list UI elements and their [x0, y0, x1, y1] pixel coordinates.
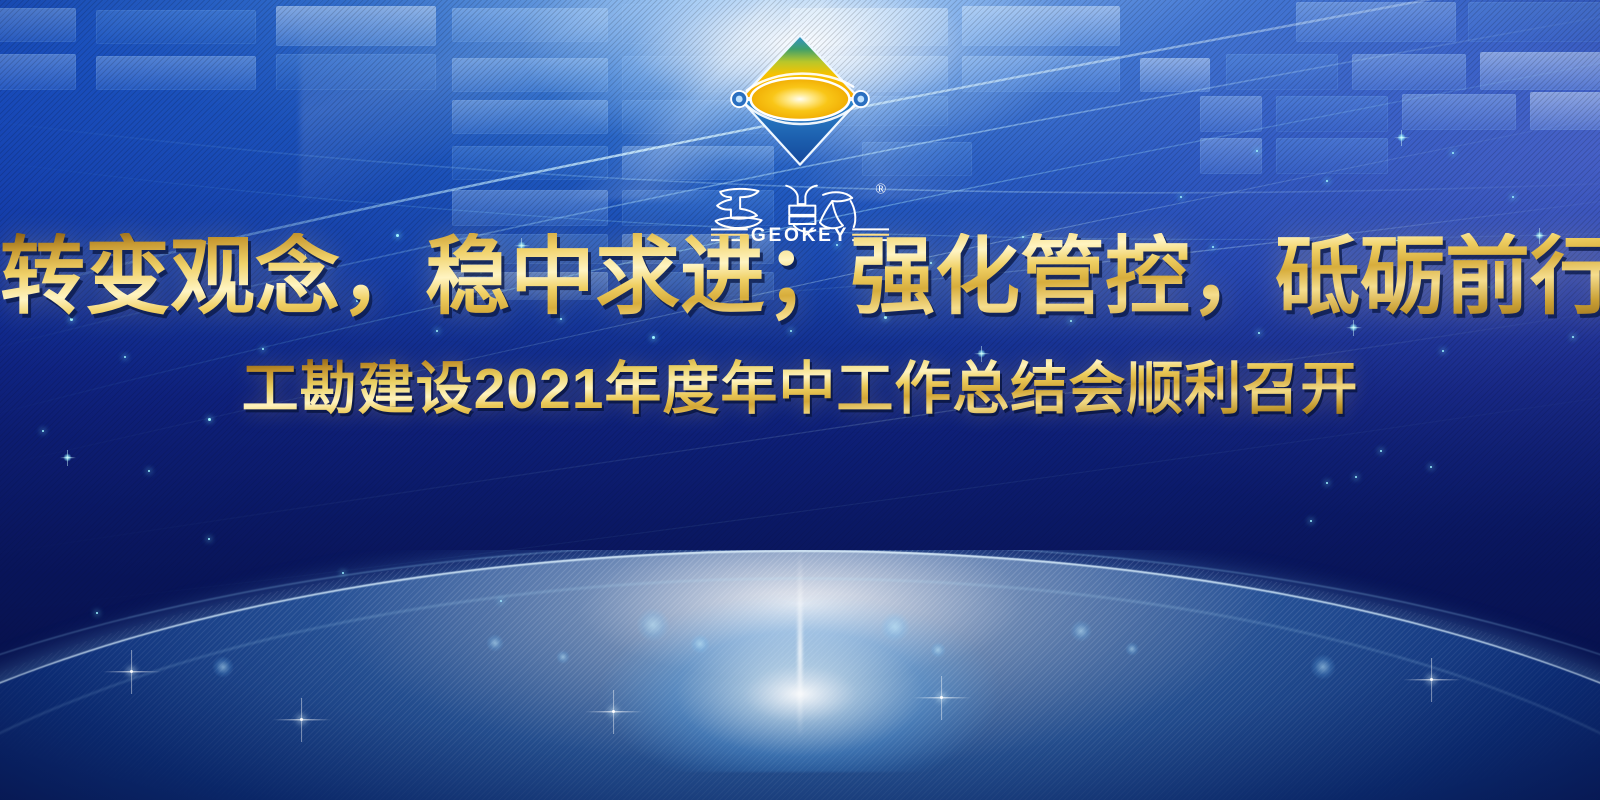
headline-block: 转变观念，稳中求进；强化管控，砥砺前行。	[0, 233, 1600, 323]
subtitle-block: 工勘建设2021年度年中工作总结会顺利召开	[0, 358, 1600, 421]
banner-subtitle: 工勘建设2021年度年中工作总结会顺利召开	[242, 358, 1359, 421]
globe-core-spike	[798, 550, 802, 738]
bottom-globe-horizon	[0, 550, 1600, 800]
banner-stage: ® GEOKEY 转变观念，稳中求进；强化管控，砥砺前行。 工勘建设2021年度…	[0, 0, 1600, 800]
banner-headline: 转变观念，稳中求进；强化管控，砥砺前行。	[0, 233, 1600, 323]
company-logo[interactable]: ® GEOKEY	[675, 24, 925, 244]
geokey-diamond-emblem-icon	[724, 24, 876, 176]
registered-symbol: ®	[875, 181, 886, 197]
